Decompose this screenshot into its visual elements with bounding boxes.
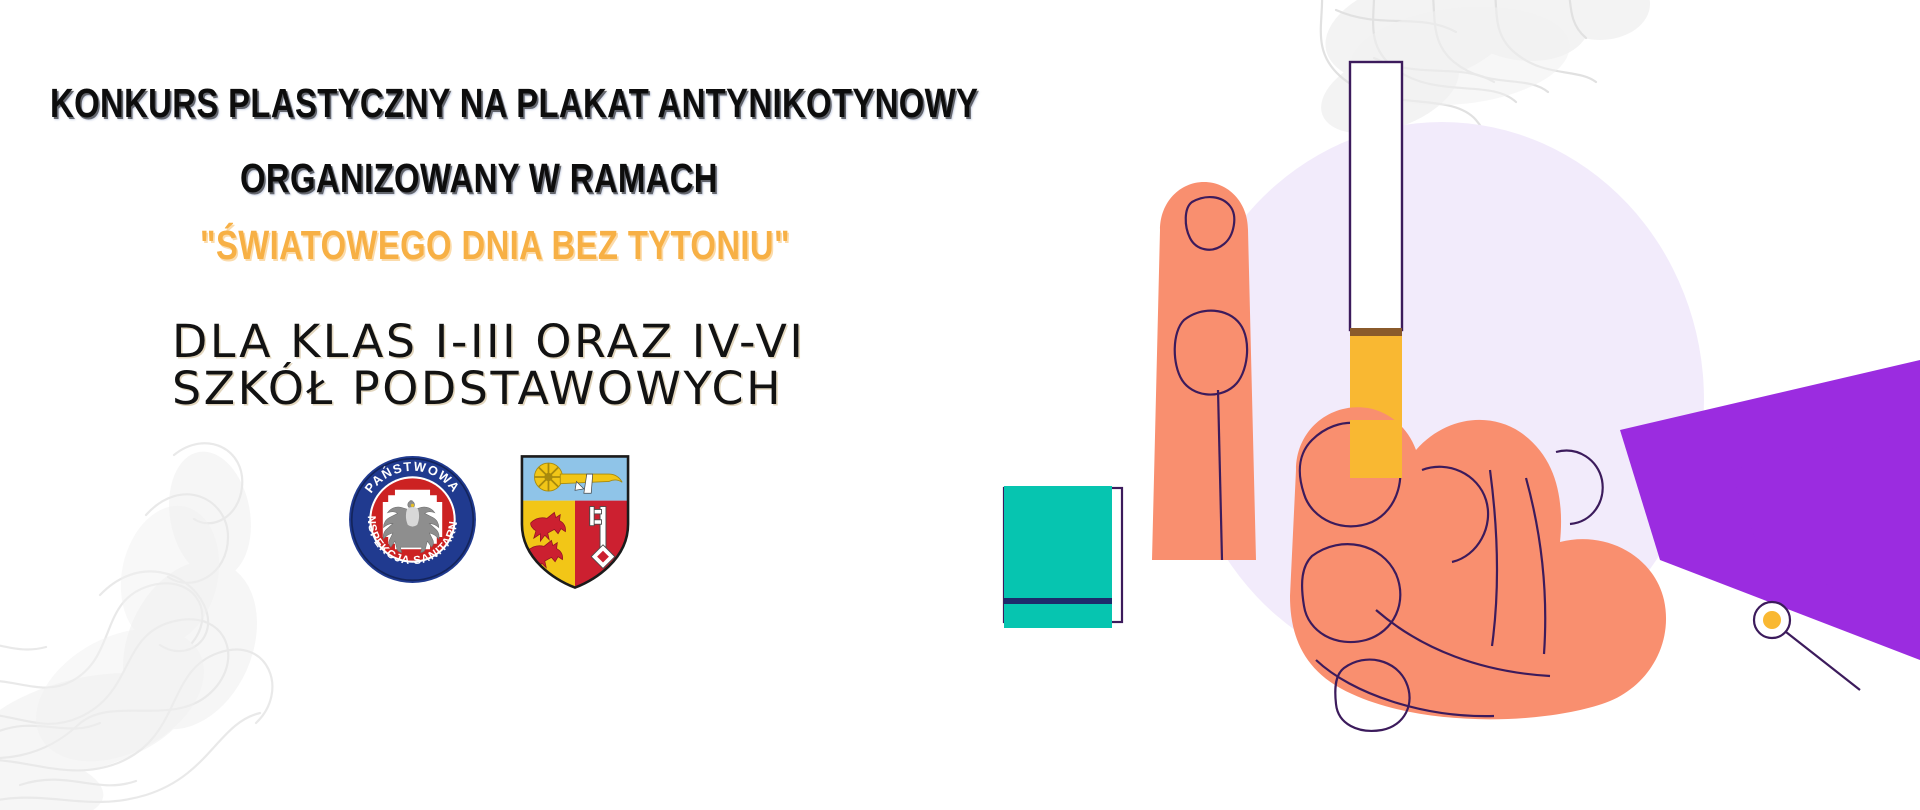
text-column: KONKURS PLASTYCZNY NA PLAKAT ANTYNIKOTYN… xyxy=(0,0,1000,810)
headline-line-1: KONKURS PLASTYCZNY NA PLAKAT ANTYNIKOTYN… xyxy=(50,80,978,127)
book-shape xyxy=(1004,486,1122,628)
coat-of-arms-icon xyxy=(515,452,635,592)
panstwowa-inspekcja-sanitarna-logo-icon: PAŃSTWOWA INSPEKCJA SANITARNA xyxy=(345,452,480,587)
logo-row: PAŃSTWOWA INSPEKCJA SANITARNA xyxy=(345,452,655,592)
subheadline-line-2: SZKÓŁ PODSTAWOWYCH xyxy=(172,362,783,415)
subheadline-line-1: DLA KLAS I-III ORAZ IV-VI xyxy=(172,315,806,368)
index-finger xyxy=(1152,182,1256,560)
illustration-hand-holding-cigarette xyxy=(960,0,1920,810)
poster-canvas: KONKURS PLASTYCZNY NA PLAKAT ANTYNIKOTYN… xyxy=(0,0,1920,810)
headline-line-2: ORGANIZOWANY W RAMACH xyxy=(240,155,718,202)
headline-line-3-highlight: "ŚWIATOWEGO DNIA BEZ TYTONIU" xyxy=(200,222,790,269)
